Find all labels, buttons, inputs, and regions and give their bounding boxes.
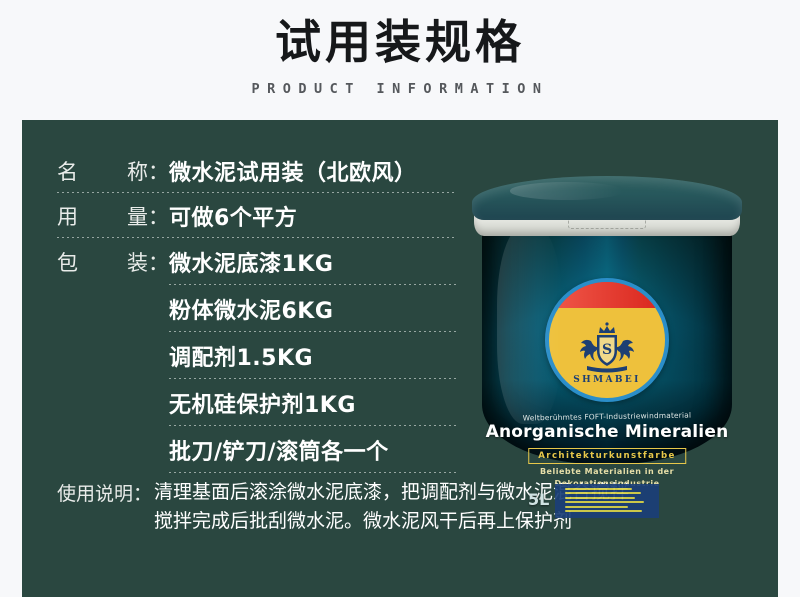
package-item-row: 粉体微水泥6KG <box>57 285 457 332</box>
package-item-label: 无机硅保护剂1KG <box>169 387 356 419</box>
brand-name-text: SHMABEI <box>549 375 665 385</box>
spec-label-char-b: 量： <box>127 201 169 231</box>
spec-label-char-a: 用 <box>57 201 78 231</box>
product-description-line-1: Beliebte Materialien in der <box>540 467 674 476</box>
spec-row: 用 量： 可做6个平方 <box>57 193 457 238</box>
spec-row: 名 称： 微水泥试用装（北欧风） <box>57 148 457 193</box>
volume-label: 5L <box>528 490 549 509</box>
spec-label-char-a: 包 <box>57 247 78 277</box>
package-item-row: 无机硅保护剂1KG <box>57 379 457 426</box>
spec-value-amount: 可做6个平方 <box>169 200 297 232</box>
package-item-label: 调配剂1.5KG <box>169 340 313 372</box>
spec-value-name: 微水泥试用装（北欧风） <box>169 155 417 187</box>
bucket-lid <box>472 176 742 220</box>
spec-row: 包 装： 微水泥底漆1KG <box>57 238 457 285</box>
product-bucket-image: S SHMABEI Weltberühmtes FOFT-Industriewi… <box>452 168 762 468</box>
spec-label-amount: 用 量： <box>57 201 169 231</box>
page-header: 试用装规格 PRODUCT INFORMATION <box>0 0 800 120</box>
product-name-text: Anorganische Mineralien <box>482 422 732 442</box>
spec-label-char-b: 装： <box>127 247 169 277</box>
spec-label-package: 包 装： <box>57 247 169 277</box>
spec-label-char-b: 称： <box>127 156 169 186</box>
usage-label: 使用说明： <box>57 478 152 506</box>
package-item-label: 批刀/铲刀/滚筒各一个 <box>169 434 389 466</box>
spec-value-package: 微水泥底漆1KG <box>169 246 333 278</box>
spec-label-char-a: 名 <box>57 156 78 186</box>
spec-label-name: 名 称： <box>57 156 169 186</box>
product-category-box: Architekturkunstfarbe <box>528 448 686 464</box>
svg-text:S: S <box>602 342 612 358</box>
page-title: 试用装规格 <box>0 14 800 72</box>
package-item-label: 粉体微水泥6KG <box>169 293 333 325</box>
row-divider <box>169 472 457 473</box>
heraldic-crest-icon: S <box>561 321 653 373</box>
product-feature-list-box <box>555 484 659 518</box>
package-item-row: 调配剂1.5KG <box>57 332 457 379</box>
package-item-row: 批刀/铲刀/滚筒各一个 <box>57 426 457 473</box>
product-info-panel: 名 称： 微水泥试用装（北欧风） 用 量： 可做6个平方 包 装： 微水泥底漆1… <box>22 120 778 597</box>
bucket-body: S SHMABEI Weltberühmtes FOFT-Industriewi… <box>482 216 732 464</box>
spec-list: 名 称： 微水泥试用装（北欧风） 用 量： 可做6个平方 包 装： 微水泥底漆1… <box>57 148 457 473</box>
brand-label-circle: S SHMABEI <box>545 278 669 402</box>
page-subtitle: PRODUCT INFORMATION <box>0 81 800 97</box>
